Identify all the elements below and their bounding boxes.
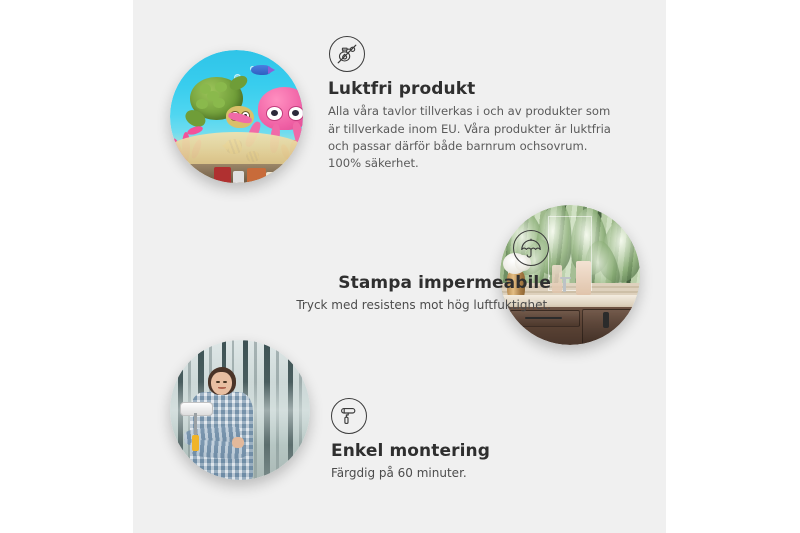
towel <box>576 261 591 295</box>
towel <box>552 265 562 293</box>
paint-roller-grip <box>192 435 199 450</box>
shelf-object <box>266 172 279 183</box>
aquarium-scene <box>170 50 303 183</box>
person-smile <box>218 387 226 389</box>
feature-body: Tryck med resistens mot hög luftfuktighe… <box>213 297 551 315</box>
feature-body: Färgdig på 60 minuter. <box>331 465 621 483</box>
octopus-eye <box>266 106 283 121</box>
umbrella-icon <box>513 230 549 266</box>
page-root: Luktfri produkt Alla våra tavlor tillver… <box>0 0 800 533</box>
turtle-spot <box>196 99 208 110</box>
product-image-aquarium[interactable] <box>170 50 303 183</box>
feature-block-waterproof: Stampa impermeabile Tryck med resistens … <box>213 230 551 315</box>
painter-scene <box>170 340 310 480</box>
fish-blue-tail <box>268 66 275 74</box>
feature-body: Alla våra tavlor tillverkas i och av pro… <box>328 103 623 172</box>
turtle-spot <box>215 82 227 93</box>
cabinet-handle <box>603 312 609 328</box>
person-eye <box>216 381 219 383</box>
drawer-handle <box>525 317 563 319</box>
shelf-object <box>247 168 266 183</box>
paint-roller-icon <box>331 398 367 434</box>
feature-title: Luktfri produkt <box>328 79 623 99</box>
octopus-eye <box>288 106 303 121</box>
person-eye <box>223 381 226 383</box>
turtle-spot <box>207 91 219 102</box>
product-image-painter[interactable] <box>170 340 310 480</box>
feature-block-assembly: Enkel montering Färgdig på 60 minuter. <box>331 398 621 483</box>
shelf-object <box>214 167 231 183</box>
faucet-spout <box>560 277 571 279</box>
no-odor-perfume-icon <box>329 36 365 72</box>
person-hand <box>232 437 245 448</box>
feature-block-odorless: Luktfri produkt Alla våra tavlor tillver… <box>328 36 623 172</box>
content-panel: Luktfri produkt Alla våra tavlor tillver… <box>133 0 666 533</box>
faucet <box>563 278 566 292</box>
feature-title: Enkel montering <box>331 441 621 461</box>
aquarium-sand <box>170 132 303 167</box>
shelf-object <box>233 171 245 183</box>
feature-title: Stampa impermeabile <box>213 273 551 293</box>
